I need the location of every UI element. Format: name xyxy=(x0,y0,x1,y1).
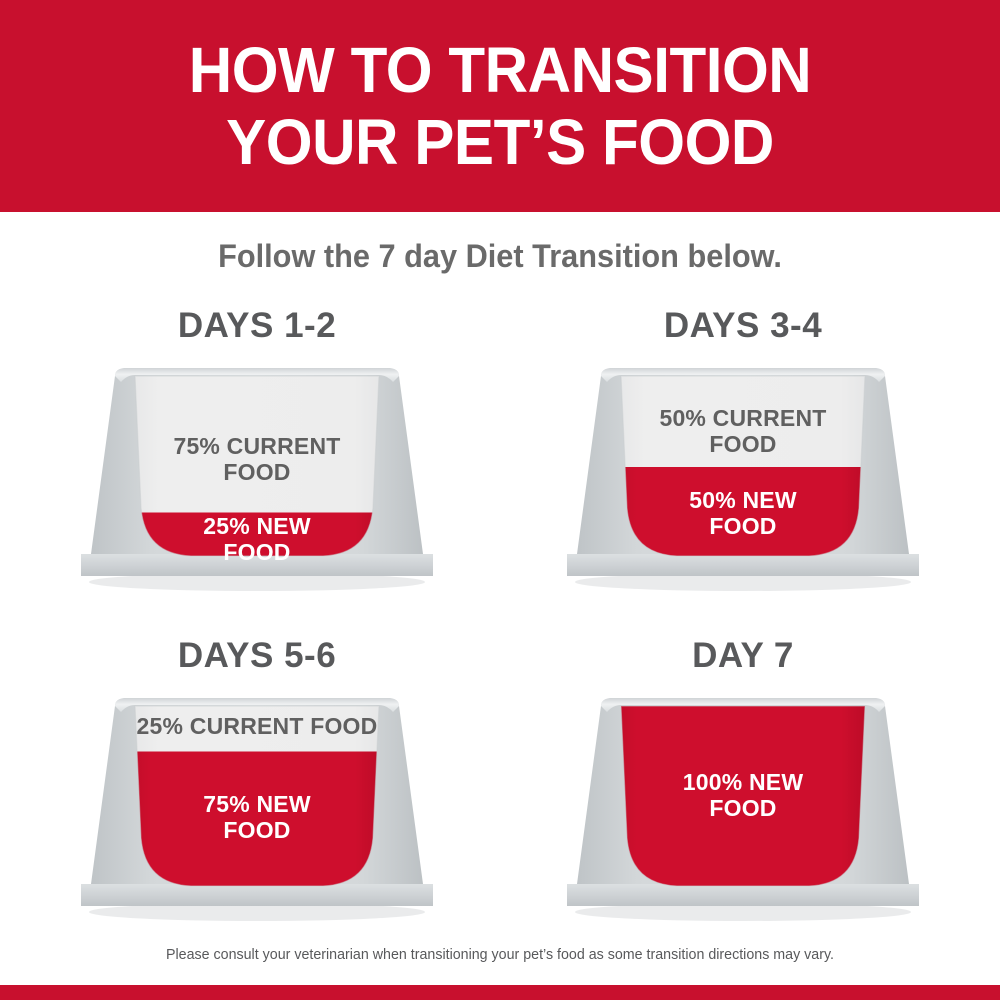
new-food-fill xyxy=(603,706,883,888)
header-banner: HOW TO TRANSITION YOUR PET’S FOOD xyxy=(0,0,1000,212)
bowl-graphic-days-1-2: 75% CURRENT FOOD 25% NEW FOOD xyxy=(57,358,457,603)
footer-disclaimer: Please consult your veterinarian when tr… xyxy=(25,946,975,963)
step-heading: DAYS 1-2 xyxy=(22,306,492,346)
bowl-icon xyxy=(57,688,457,933)
step-heading: DAY 7 xyxy=(508,636,978,676)
infographic-page: HOW TO TRANSITION YOUR PET’S FOOD Follow… xyxy=(0,0,1000,1000)
subtitle: Follow the 7 day Diet Transition below. xyxy=(20,238,980,275)
step-heading: DAYS 5-6 xyxy=(22,636,492,676)
step-heading: DAYS 3-4 xyxy=(508,306,978,346)
bowl-icon xyxy=(543,688,943,933)
step-panel-days-3-4: DAYS 3-4 xyxy=(508,300,978,620)
new-food-fill xyxy=(603,467,883,558)
step-panel-days-1-2: DAYS 1-2 xyxy=(22,300,492,620)
step-panel-day-7: DAY 7 xyxy=(508,630,978,950)
page-title: HOW TO TRANSITION YOUR PET’S FOOD xyxy=(30,34,970,178)
bowl-icon xyxy=(57,358,457,603)
bowl-icon xyxy=(543,358,943,603)
bowl-graphic-days-3-4: 50% CURRENT FOOD 50% NEW FOOD xyxy=(543,358,943,603)
step-panel-days-5-6: DAYS 5-6 xyxy=(22,630,492,950)
transition-steps-grid: DAYS 1-2 xyxy=(0,300,1000,940)
bowl-graphic-days-5-6: 25% CURRENT FOOD 75% NEW FOOD xyxy=(57,688,457,933)
bowl-graphic-day-7: 100% NEW FOOD xyxy=(543,688,943,933)
new-food-fill xyxy=(117,752,397,889)
footer-bar xyxy=(0,985,1000,1000)
